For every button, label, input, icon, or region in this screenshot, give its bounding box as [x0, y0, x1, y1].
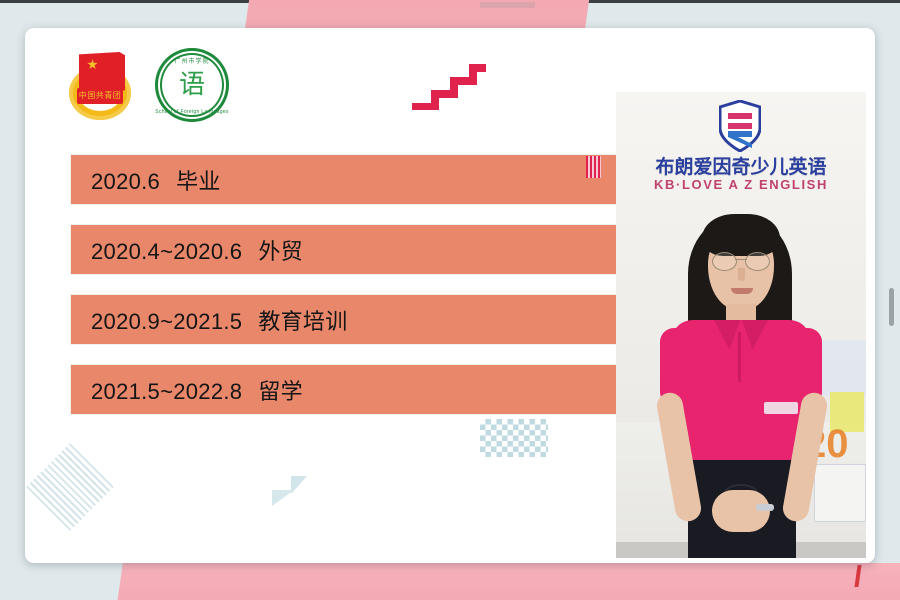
presenter-glasses-icon: [712, 252, 770, 269]
presenter-wristwatch: [756, 504, 774, 511]
presenter-nose: [738, 268, 745, 281]
presenter-shirt-logo: [764, 402, 798, 414]
timeline-bar-text: 2020.9~2021.5教育培训: [91, 304, 348, 336]
video-feed-panel[interactable]: 布朗爱因奇少儿英语 KB·LOVE A Z ENGLISH 让学习更近 20: [616, 92, 866, 558]
presentation-slide-card: 中国共青团 广州市学院 语 School of Foreign Language…: [25, 28, 875, 563]
pink-bottom-decoration: [117, 563, 900, 600]
timeline-bar[interactable]: 2020.9~2021.5教育培训: [70, 294, 630, 345]
timeline-bar[interactable]: 2020.4~2020.6外贸: [70, 224, 630, 275]
presenter-figure: [616, 92, 866, 558]
timeline-label: 外贸: [258, 239, 303, 264]
school-emblem-bottom-text: School of Foreign Languages: [155, 109, 229, 115]
hatched-diamond-decoration: [26, 443, 114, 531]
school-emblem-glyph: 语: [179, 72, 205, 98]
timeline-label: 留学: [258, 379, 303, 404]
timeline-label: 毕业: [176, 169, 221, 194]
glasses-left-lens: [712, 252, 737, 271]
timeline-bar-text: 2020.6毕业: [91, 164, 221, 196]
staircase-decoration-icon: [410, 54, 488, 110]
school-emblem-icon: 广州市学院 语 School of Foreign Languages: [155, 48, 229, 122]
red-flag-shape: [79, 52, 125, 92]
stripe-accent-decoration: [586, 156, 601, 178]
emblem-ribbon-label: 中国共青团: [77, 88, 123, 104]
timeline-bar[interactable]: 2021.5~2022.8留学: [70, 364, 630, 415]
presenter-fringe: [702, 214, 780, 256]
glasses-right-lens: [745, 252, 770, 271]
logo-group: 中国共青团 广州市学院 语 School of Foreign Language…: [65, 48, 229, 122]
timeline-period: 2020.6: [91, 169, 160, 194]
screenshot-stage: 中国共青团 广州市学院 语 School of Foreign Language…: [0, 0, 900, 600]
presenter-hands: [712, 490, 770, 532]
triangle-decoration-lower: [272, 490, 294, 506]
presenter-polo-shirt: [671, 320, 811, 460]
timeline-bar-text: 2021.5~2022.8留学: [91, 374, 303, 406]
presenter-shirt-placket: [738, 332, 741, 382]
timeline-label: 教育培训: [258, 309, 347, 334]
timeline-period: 2020.4~2020.6: [91, 239, 242, 264]
pink-top-decoration: [245, 0, 589, 30]
timeline-bar[interactable]: 2020.6毕业: [70, 154, 630, 205]
timeline-bar-text: 2020.4~2020.6外贸: [91, 234, 303, 266]
presenter-mouth: [731, 288, 753, 294]
timeline-period: 2020.9~2021.5: [91, 309, 242, 334]
page-scrollbar-thumb[interactable]: [889, 288, 894, 326]
communist-youth-league-emblem-icon: 中国共青团: [65, 48, 137, 122]
checkerboard-decoration: [480, 419, 548, 457]
timeline-period: 2021.5~2022.8: [91, 379, 242, 404]
pink-top-notch-decoration: [480, 2, 535, 8]
timeline-bar-list: 2020.6毕业 2020.4~2020.6外贸 2020.9~2021.5教育…: [70, 154, 630, 434]
